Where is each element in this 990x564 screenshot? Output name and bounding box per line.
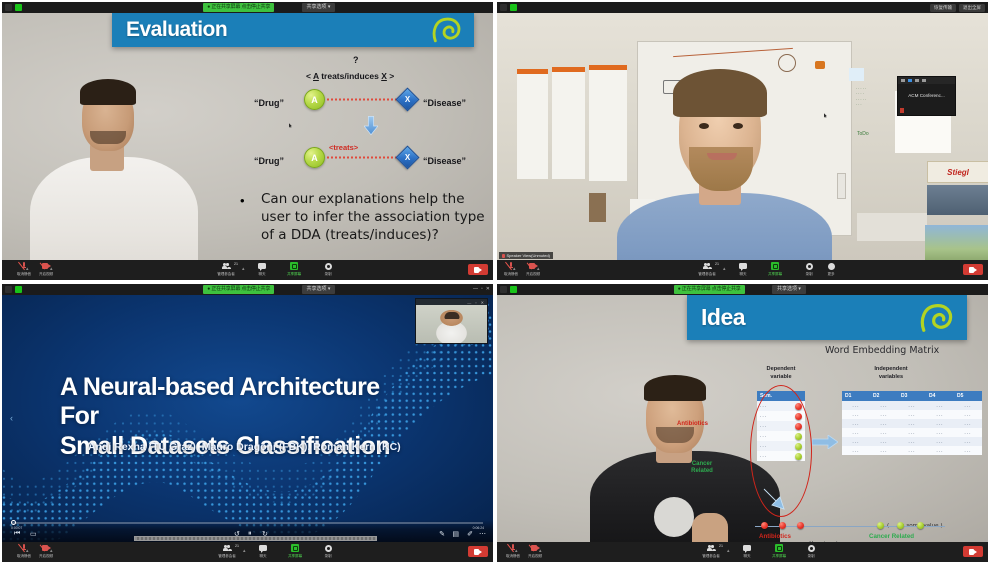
independent-variables-label: Independent variables	[857, 365, 925, 382]
dot-antibiotic	[797, 522, 804, 529]
maximize-icon[interactable]: ▫	[481, 286, 483, 292]
slide-surface: Idea BRAUNSCHWEIG Word	[497, 295, 988, 542]
end-call-icon	[474, 549, 483, 555]
video-button[interactable]: 开启视频	[32, 544, 60, 559]
participants-caret-icon[interactable]: ▴	[243, 548, 246, 554]
record-icon	[325, 545, 332, 552]
whiteboard-icon[interactable]: ▤	[452, 530, 459, 538]
share-screen-label: 共享屏幕	[288, 554, 302, 559]
panel-top-right: 恢复传输 退出全屏 · · · · ·· · · ·· · · · ·	[495, 0, 990, 282]
table-cell: ...	[842, 410, 870, 419]
table-row: ...............	[842, 419, 982, 428]
titlebar-status-dots	[2, 4, 22, 11]
table-cell: ...	[954, 419, 982, 428]
dot-antibiotic	[779, 522, 786, 529]
record-label: 录制	[325, 272, 332, 277]
chat-icon	[743, 545, 751, 551]
row2-node-x: X	[395, 145, 419, 169]
participants-icon	[703, 263, 712, 270]
table-col-header: D1	[842, 391, 870, 401]
grid-icon[interactable]	[922, 79, 926, 82]
chat-icon	[739, 263, 747, 269]
stiegl-sign: Stiegl	[927, 161, 988, 183]
speaker-name-badge: Speaker View(Unmuted)	[499, 252, 553, 259]
mute-label: 取消静音	[506, 554, 520, 559]
table-col-header: D3	[898, 391, 926, 401]
table-row: ...............	[842, 410, 982, 419]
table-cell: ...	[898, 410, 926, 419]
rel-mid: treats/induces	[319, 71, 381, 81]
zoom-toolbar: 取消静音 ▴ 开启视频 ▴ 管理参会者 21 ▴ 聊天 共享屏幕	[497, 260, 988, 280]
dot-cancer	[877, 522, 884, 529]
mute-indicator-icon	[500, 286, 507, 293]
shirt-logo	[654, 497, 694, 537]
table-row: ...............	[842, 428, 982, 437]
mute-caret-icon[interactable]: ▴	[26, 266, 29, 272]
seek-handle[interactable]	[11, 520, 16, 525]
cancer-line-2: Related	[691, 468, 713, 474]
self-view-thumbnail[interactable]: — ▫ ✕	[415, 298, 488, 344]
table-cell: ...	[842, 446, 870, 455]
zoom-titlebar: ● 正在共享屏幕 点击停止共享 共享选项 ▾	[497, 284, 988, 295]
table-cell: ...	[898, 428, 926, 437]
title-line-1: A Neural-based Architecture For	[60, 373, 410, 432]
chat-button[interactable]: 聊天	[729, 262, 757, 277]
end-meeting-button[interactable]	[963, 264, 983, 275]
table-cell: ...	[926, 437, 954, 446]
screen-share-status-pill[interactable]: ● 正在共享屏幕 点击停止共享	[203, 285, 274, 294]
chat-label: 聊天	[744, 554, 751, 559]
table-cell: ...	[954, 437, 982, 446]
table-cell: ...	[954, 428, 982, 437]
zoom-toolbar: 取消静音 ▴ 开启视频 ▴ 管理参会者 21 ▴ 聊天 共享屏幕	[497, 542, 988, 562]
slide-title: Idea	[701, 304, 745, 331]
exit-fullscreen-button[interactable]: 退出全屏	[959, 4, 985, 12]
record-label: 录制	[325, 554, 332, 559]
share-pill-label: 正在共享屏幕 点击停止共享	[211, 286, 270, 292]
dot-cancer	[897, 522, 904, 529]
acm-window-title: ACM Conferenc...	[898, 93, 955, 98]
window-buttons: — ▫ ✕	[473, 286, 490, 292]
share-screen-button[interactable]: 共享屏幕	[280, 262, 308, 277]
chat-button[interactable]: 聊天	[249, 544, 277, 559]
table-cell: ...	[870, 437, 898, 446]
table-cell: ...	[926, 428, 954, 437]
chat-button[interactable]: 聊天	[248, 262, 276, 277]
participants-icon	[707, 545, 716, 552]
word-embedding-diagram: Word Embedding Matrix Dependent variable…	[732, 343, 982, 543]
table-cell: ...	[842, 419, 870, 428]
participants-label: 管理参会者	[702, 554, 719, 559]
record-icon	[808, 545, 815, 552]
row2-edge	[326, 156, 404, 159]
record-icon	[806, 263, 813, 270]
recording-grid: ● 正在共享屏幕 点击停止共享 共享选项 ▾ Evaluation	[0, 0, 990, 564]
video-caret-icon[interactable]: ▴	[537, 266, 540, 272]
share-options-menu[interactable]: 共享选项 ▾	[772, 285, 806, 294]
arrow-down-icon	[364, 115, 378, 137]
bottom-antibiotics-label: Antibiotics	[759, 533, 791, 540]
participants-label: 管理参会者	[218, 554, 235, 559]
slide-surface: Evaluation ? < A treats/induces	[2, 13, 493, 260]
mute-caret-icon[interactable]: ▴	[515, 548, 518, 554]
share-screen-label: 共享屏幕	[287, 272, 301, 277]
antibiotics-label: Antibiotics	[677, 421, 708, 427]
dependent-line-2: variable	[770, 374, 791, 380]
slide-header: Idea	[687, 295, 967, 340]
pip-close-icon[interactable]: ✕	[481, 300, 484, 305]
row1-node-x: X	[395, 87, 419, 111]
chat-label: 聊天	[740, 272, 747, 277]
row2-node-a: A	[304, 147, 325, 168]
rel-suffix: >	[387, 71, 394, 81]
shelf	[857, 213, 927, 241]
microphone-icon	[502, 254, 505, 258]
horizontal-scrollbar[interactable]	[134, 536, 377, 541]
record-button[interactable]: 录制	[314, 262, 342, 277]
share-indicator-icon	[510, 286, 517, 293]
share-screen-button[interactable]: 共享屏幕	[765, 544, 793, 559]
swirl-logo-icon	[917, 301, 957, 335]
acm-window-toolbar	[898, 77, 955, 84]
rewind-icon[interactable]: ⏮	[14, 530, 20, 538]
presenter-video	[20, 69, 205, 280]
participants-count-badge: 21	[235, 544, 239, 548]
table-cell: ...	[870, 410, 898, 419]
dot-cancer	[917, 522, 924, 529]
chat-icon	[258, 263, 266, 269]
screen-share-status-pill[interactable]: ● 正在共享屏幕 点击停止共享	[203, 3, 274, 12]
video-caret-icon[interactable]: ▴	[539, 548, 542, 554]
chat-icon	[259, 545, 267, 551]
participants-count-badge: 21	[719, 544, 723, 548]
share-pill-label: 正在共享屏幕 点击停止共享	[682, 286, 741, 292]
screen-share-status-pill[interactable]: ● 正在共享屏幕 点击停止共享	[674, 285, 745, 294]
row2-edge-label: <treats>	[329, 143, 358, 152]
bullet-marker: •	[240, 193, 245, 208]
titlebar-status-dots	[497, 286, 517, 293]
share-options-menu[interactable]: 共享选项 ▾	[302, 3, 336, 12]
table-col-header: D2	[870, 391, 898, 401]
embedding-matrix-table: D1D2D3D4D5 .............................…	[842, 391, 982, 455]
pip-minimize-icon[interactable]: —	[467, 300, 471, 305]
video-label: 开启视频	[39, 272, 53, 277]
poster	[552, 67, 585, 179]
end-meeting-button[interactable]	[963, 546, 983, 557]
table-body: ........................................…	[842, 401, 982, 455]
pip-hair	[444, 312, 459, 319]
independent-line-2: variables	[879, 374, 903, 380]
more-icon	[828, 263, 835, 270]
evaluation-diagram: ? < A treats/induces X > “Drug” A X “Dis…	[207, 55, 492, 175]
table-cell: ...	[842, 437, 870, 446]
shelf-books	[927, 185, 988, 215]
acm-conference-window[interactable]: ACM Conferenc...	[897, 76, 956, 116]
video-button[interactable]: 开启视频	[521, 544, 549, 559]
mouse-cursor-icon	[824, 113, 827, 118]
participants-label: 管理参会者	[698, 272, 715, 277]
end-meeting-button[interactable]	[468, 546, 488, 557]
connector-arrow-icon	[812, 435, 838, 449]
share-screen-icon	[775, 544, 783, 552]
record-label: 录制	[806, 272, 813, 277]
participants-caret-icon[interactable]: ▴	[242, 266, 245, 272]
record-icon	[325, 263, 332, 270]
slide-title: Evaluation	[126, 18, 227, 42]
table-cell: ...	[926, 446, 954, 455]
video-caret-icon[interactable]: ▴	[50, 266, 53, 272]
zoom-toolbar: 取消静音 ▴ 开启视频 ▴ 管理参会者 21 ▴ 聊天 共享屏幕	[2, 542, 493, 562]
webcam-feed: · · · · ·· · · ·· · · · ·· · · ToDo Stie…	[497, 13, 988, 260]
table-row: ...............	[842, 401, 982, 410]
table-cell: ...	[898, 401, 926, 410]
share-screen-icon	[291, 544, 299, 552]
resume-transmit-button[interactable]: 恢复传输	[930, 4, 956, 12]
whiteboard-todo-label: ToDo	[857, 131, 881, 141]
zoom-titlebar: 恢复传输 退出全屏	[497, 2, 988, 13]
table-col-header: D5	[954, 391, 982, 401]
minimize-icon[interactable]: —	[473, 286, 478, 292]
share-options-label: 共享选项	[307, 4, 327, 10]
row1-node-a: A	[304, 89, 325, 110]
table-header-row: D1D2D3D4D5	[842, 391, 982, 401]
restore-icon[interactable]	[908, 79, 912, 82]
table-cell: ...	[870, 401, 898, 410]
zoom-titlebar: ● 正在共享屏幕 点击停止共享 共享选项 ▾	[2, 2, 493, 13]
table-row: ...............	[842, 437, 982, 446]
row2-right-label: “Disease”	[423, 156, 466, 166]
table-cell: ...	[954, 410, 982, 419]
video-label: 开启视频	[528, 554, 542, 559]
share-indicator-icon	[15, 286, 22, 293]
panel-top-left: ● 正在共享屏幕 点击停止共享 共享选项 ▾ Evaluation	[0, 0, 495, 282]
mute-label: 取消静音	[17, 554, 31, 559]
share-options-label: 共享选项	[307, 286, 327, 292]
pip-video	[416, 305, 487, 343]
record-button[interactable]: 录制	[314, 544, 342, 559]
title-slide-authors: Andi Rexha (TU Graz), Mauro Dragoni (FBK…	[88, 441, 408, 453]
table-cell: ...	[898, 437, 926, 446]
stiegl-sign-text: Stiegl	[947, 168, 969, 177]
mute-caret-icon[interactable]: ▴	[513, 266, 516, 272]
row2-node-x-label: X	[400, 150, 415, 165]
row1-node-x-label: X	[400, 92, 415, 107]
video-button[interactable]: 开启视频	[519, 262, 547, 277]
dependent-variable-label: Dependent variable	[752, 365, 810, 382]
row1-edge	[326, 98, 404, 101]
table-cell: ...	[954, 401, 982, 410]
titlebar-status-dots	[497, 4, 517, 11]
wall-note	[849, 68, 864, 81]
table-cell: ...	[898, 419, 926, 428]
participants-icon	[222, 263, 231, 270]
record-label: 录制	[808, 554, 815, 559]
share-indicator-icon	[510, 4, 517, 11]
laser-pointer-icon[interactable]: ✐	[467, 530, 473, 538]
down-right-arrow-icon	[762, 487, 788, 511]
cancer-related-label: Cancer Related	[682, 461, 722, 475]
cancer-line-1: Cancer	[692, 461, 712, 467]
seek-track[interactable]	[12, 522, 483, 524]
table-cell: ...	[842, 401, 870, 410]
share-pill-label: 正在共享屏幕 点击停止共享	[211, 4, 270, 10]
table-cell: ...	[926, 419, 954, 428]
end-meeting-button[interactable]	[468, 264, 488, 275]
participants-caret-icon[interactable]: ▴	[723, 266, 726, 272]
panel-bottom-right: ● 正在共享屏幕 点击停止共享 共享选项 ▾ Idea	[495, 282, 990, 564]
landscape-photo	[925, 225, 988, 260]
bullet-text: Can our explanations help the user to in…	[261, 191, 491, 245]
share-options-label: 共享选项	[777, 286, 797, 292]
bottom-cancer-label: Cancer Related	[869, 533, 914, 540]
dependent-line-1: Dependent	[767, 366, 796, 372]
slide-header: Evaluation	[112, 13, 474, 47]
tile-icon[interactable]	[915, 79, 919, 82]
table-row: ...............	[842, 446, 982, 455]
table-cell: ...	[870, 428, 898, 437]
table-cell: ...	[870, 446, 898, 455]
captions-icon[interactable]: ▭	[30, 530, 37, 538]
share-options-menu[interactable]: 共享选项 ▾	[302, 285, 336, 294]
close-icon[interactable]: ✕	[486, 286, 490, 292]
row1-left-label: “Drug”	[254, 98, 284, 108]
table-cell: ...	[898, 446, 926, 455]
chat-label: 聊天	[260, 554, 267, 559]
video-player-controls: 0:00:07 0:06:24 ⏮ ▭ ↺ ⏸ ↻ ✎ ▤ ✐ ⋯	[2, 520, 493, 542]
question-mark-label: ?	[353, 55, 359, 65]
rel-prefix: <	[306, 71, 313, 81]
video-label: 开启视频	[39, 554, 53, 559]
title-slide: A Neural-based Architecture For Small Da…	[2, 295, 493, 542]
pen-icon[interactable]: ✎	[439, 530, 445, 538]
share-indicator-icon	[15, 4, 22, 11]
titlebar-status-dots	[2, 286, 22, 293]
more-icon[interactable]: ⋯	[479, 530, 486, 538]
minimize-icon[interactable]	[901, 79, 905, 82]
row1-right-label: “Disease”	[423, 98, 466, 108]
mute-label: 取消静音	[504, 272, 518, 277]
poster	[517, 69, 548, 179]
more-button[interactable]: 更多	[817, 262, 845, 277]
matrix-title: Word Embedding Matrix	[825, 345, 939, 356]
end-call-icon	[969, 267, 978, 273]
row2-left-label: “Drug”	[254, 156, 284, 166]
participants-count-badge: 21	[715, 262, 719, 266]
chat-label: 聊天	[259, 272, 266, 277]
table-cell: ...	[842, 428, 870, 437]
relation-expression: < A treats/induces X >	[306, 71, 394, 81]
dot-antibiotic	[761, 522, 768, 529]
share-screen-icon	[771, 262, 779, 270]
participants-label: 管理参会者	[217, 272, 234, 277]
end-call-icon	[969, 549, 978, 555]
swirl-logo-icon	[430, 15, 464, 45]
record-button[interactable]: 录制	[797, 544, 825, 559]
speaker-name-label: Speaker View(Unmuted)	[507, 253, 551, 258]
mute-indicator-icon	[5, 4, 12, 11]
zoom-toolbar: 取消静音 ▴ 开启视频 ▴ 管理参会者 21 ▴ 聊天 共享屏幕	[2, 260, 493, 280]
share-screen-button[interactable]: 共享屏幕	[761, 262, 789, 277]
table-cell: ...	[926, 401, 954, 410]
mouse-cursor-icon	[289, 123, 292, 128]
table-cell: ...	[954, 446, 982, 455]
acm-window-badge	[900, 108, 904, 113]
share-screen-label: 共享屏幕	[768, 272, 782, 277]
webcam-person	[607, 43, 837, 260]
pip-maximize-icon[interactable]: ▫	[475, 300, 476, 305]
panel-bottom-left: ● 正在共享屏幕 点击停止共享 共享选项 ▾ — ▫ ✕	[0, 282, 495, 564]
mute-label: 取消静音	[17, 272, 31, 277]
video-button[interactable]: 开启视频	[32, 262, 60, 277]
prev-slide-chevron-icon[interactable]: ‹	[10, 413, 13, 423]
more-label: 更多	[828, 272, 835, 277]
chat-button[interactable]: 聊天	[733, 544, 761, 559]
independent-line-1: Independent	[874, 366, 907, 372]
mute-indicator-icon	[500, 4, 507, 11]
participants-count-badge: 21	[234, 262, 238, 266]
participants-icon	[223, 545, 232, 552]
table-col-header: D4	[926, 391, 954, 401]
wall-note	[589, 193, 606, 222]
window-buttons: 恢复传输 退出全屏	[930, 4, 985, 12]
mute-caret-icon[interactable]: ▴	[26, 548, 29, 554]
share-screen-icon	[290, 262, 298, 270]
video-label: 开启视频	[526, 272, 540, 277]
share-screen-button[interactable]: 共享屏幕	[281, 544, 309, 559]
share-screen-label: 共享屏幕	[772, 554, 786, 559]
mute-indicator-icon	[5, 286, 12, 293]
table-cell: ...	[926, 410, 954, 419]
participants-caret-icon[interactable]: ▴	[727, 548, 730, 554]
end-call-icon	[474, 267, 483, 273]
zoom-titlebar: ● 正在共享屏幕 点击停止共享 共享选项 ▾ — ▫ ✕	[2, 284, 493, 295]
light-switch	[837, 173, 846, 199]
table-cell: ...	[870, 419, 898, 428]
video-caret-icon[interactable]: ▴	[50, 548, 53, 554]
